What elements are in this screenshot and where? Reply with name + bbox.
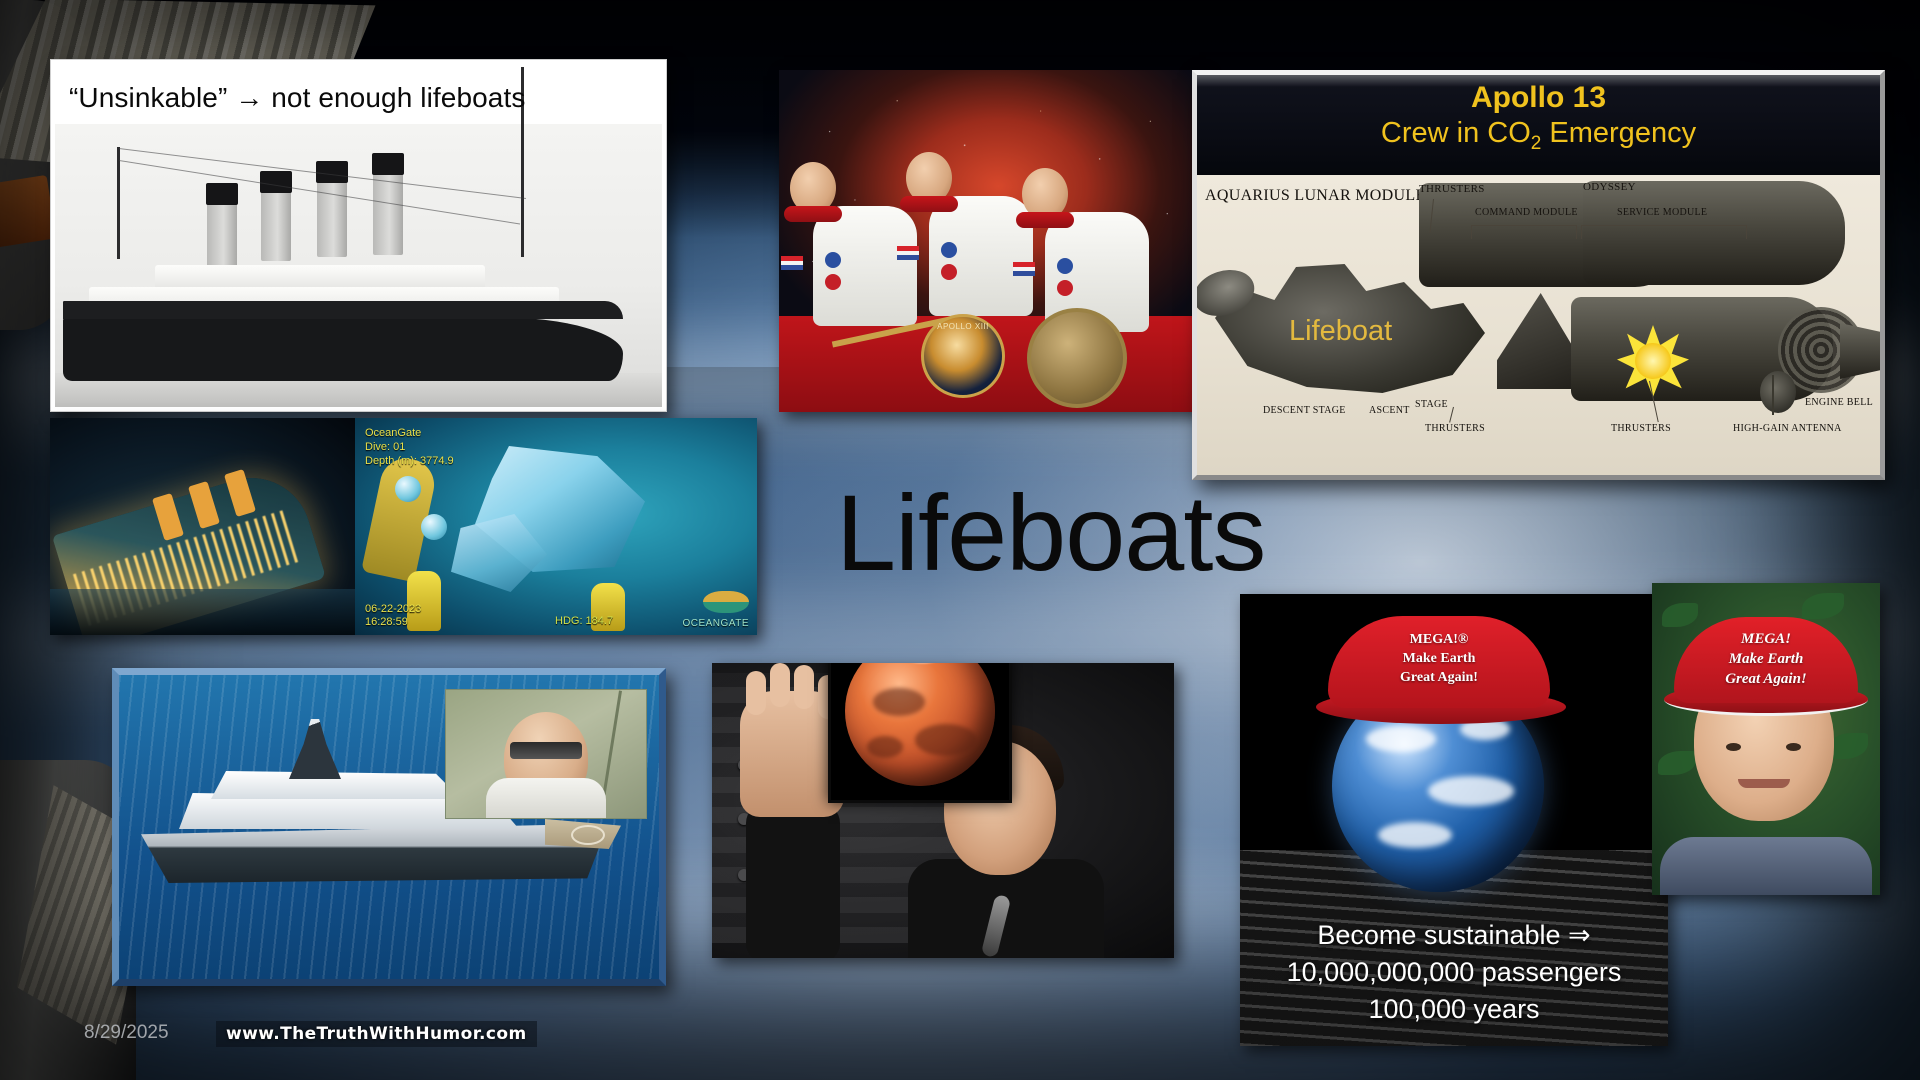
man-hat-line3: Great Again! [1674, 669, 1858, 689]
apollo13-crew-photo[interactable]: APOLLO XIII [779, 70, 1201, 412]
finger-1 [746, 671, 766, 715]
apollo13-header-bar: Apollo 13 Crew in CO2 Emergency [1197, 75, 1880, 175]
watermark: www.TheTruthWithHumor.com [216, 1021, 537, 1047]
label-thrusters-lower-left: THRUSTERS [1425, 423, 1485, 434]
earth-cloud-3 [1378, 822, 1452, 848]
suit-patch-blue [1057, 258, 1073, 274]
earth-cloud-1 [1366, 726, 1436, 752]
finger-3 [794, 665, 814, 709]
mars-mare-1 [873, 688, 925, 716]
oceangate-dive: Dive: 01 [365, 440, 454, 454]
apollo13-diagram-card[interactable]: Apollo 13 Crew in CO2 Emergency Lifeboat… [1192, 70, 1885, 480]
label-descent-stage: DESCENT STAGE [1263, 405, 1346, 416]
man-hat-text: MEGA! Make Earth Great Again! [1674, 629, 1858, 689]
earth-cloud-2 [1428, 776, 1514, 806]
titanic-foremast [117, 147, 120, 259]
helipad-marking-icon [571, 825, 605, 845]
titanic-caption: “Unsinkable” → not enough lifeboats [69, 82, 656, 114]
apollo13-title: Apollo 13 [1197, 81, 1880, 115]
antenna-boom [1772, 375, 1774, 415]
leader-line-thrusters-lower-left [1449, 407, 1454, 423]
explosion-core [1635, 343, 1671, 379]
label-stage: STAGE [1415, 399, 1448, 410]
dark-ocean [50, 589, 355, 635]
mars-inset-photo[interactable] [828, 663, 1012, 803]
rov-sensor-1 [395, 476, 421, 502]
suit-collar [784, 206, 842, 222]
man-with-mega-hat-card[interactable]: MEGA! Make Earth Great Again! [1652, 583, 1880, 895]
musk-arm [746, 803, 840, 958]
oceangate-logo-text: OCEANGATE [682, 618, 749, 629]
man-eye-left [1726, 743, 1741, 751]
label-high-gain-antenna: HIGH-GAIN ANTENNA [1733, 423, 1842, 434]
mega-hat-crown: MEGA!® Make Earth Great Again! [1328, 616, 1550, 708]
man-shirt [1660, 837, 1872, 895]
mega-hat-text: MEGA!® Make Earth Great Again! [1328, 630, 1550, 687]
apollo13-mission-patch-icon: APOLLO XIII [921, 314, 1005, 398]
sunglasses-icon [510, 742, 582, 759]
label-engine-bell: ENGINE BELL [1805, 397, 1873, 408]
high-gain-antenna-drawing [1760, 371, 1796, 413]
apollo13-diagram-body: Lifeboat AQUARIUS LUNAR MODULE THRUSTERS… [1197, 175, 1880, 475]
usa-flag-icon [897, 246, 919, 260]
suit-patch-blue [941, 242, 957, 258]
subtitle-post: Emergency [1541, 117, 1696, 149]
suit-patch-red [1057, 280, 1073, 296]
man-hat-line2: Make Earth [1674, 649, 1858, 669]
oceangate-time: 16:28:59 [365, 616, 421, 629]
titanic-hull [63, 317, 623, 381]
mega-earth-card[interactable]: MEGA!® Make Earth Great Again! Become su… [1240, 594, 1668, 1046]
rov-sensor-2 [421, 514, 447, 540]
mega-hat-line3: Great Again! [1328, 668, 1550, 687]
caption-line1: Become sustainable ⇒ [1240, 917, 1668, 954]
subtitle-pre: Crew in CO [1381, 117, 1531, 149]
suit-patch-blue [825, 252, 841, 268]
man-hat-line1: MEGA! [1674, 629, 1858, 649]
patch-text: APOLLO XIII [924, 317, 1002, 395]
caption-line3: 100,000 years [1240, 991, 1668, 1028]
label-command-module: COMMAND MODULE [1475, 207, 1578, 218]
caption-line2: 10,000,000,000 passengers [1240, 954, 1668, 991]
finger-2 [770, 663, 790, 707]
titanic-photo-card[interactable]: “Unsinkable” → not enough lifeboats [50, 59, 667, 412]
label-aquarius-lunar-module: AQUARIUS LUNAR MODULE [1205, 187, 1426, 205]
suit-patch-red [825, 274, 841, 290]
oceangate-dive-photo: OceanGate Dive: 01 Depth (m): 3774.9 06-… [355, 418, 757, 635]
titanic-wreck-strip[interactable]: OceanGate Dive: 01 Depth (m): 3774.9 06-… [50, 418, 757, 635]
oceangate-label: OceanGate [365, 426, 454, 440]
usa-flag-icon [781, 256, 803, 270]
oceangate-date: 06-22-2023 [365, 603, 421, 616]
label-ascent: ASCENT [1369, 405, 1410, 416]
apollo13-subtitle: Crew in CO2 Emergency [1197, 117, 1880, 155]
slide-canvas: “Unsinkable” → not enough lifeboats Ocea… [0, 0, 1920, 1080]
slide-date: 8/29/2025 [84, 1022, 169, 1044]
commemorative-medal-icon [1027, 308, 1127, 408]
oceangate-depth: Depth (m): 3774.9 [365, 454, 454, 468]
mars-planet-icon [845, 663, 995, 786]
mega-hat-line1: MEGA!® [1328, 630, 1550, 649]
titanic-sinking-photo [50, 418, 355, 635]
bracket-command-module [1471, 225, 1577, 239]
mars-mare-3 [867, 736, 903, 758]
oceangate-timestamp: 06-22-2023 16:28:59 [365, 603, 421, 629]
titanic-photo [55, 124, 662, 407]
subtitle-subscript: 2 [1531, 133, 1542, 154]
usa-flag-icon [1013, 262, 1035, 276]
titanic-upper-deck [155, 265, 485, 289]
man-hat-crown: MEGA! Make Earth Great Again! [1674, 617, 1858, 703]
sustainability-caption: Become sustainable ⇒ 10,000,000,000 pass… [1240, 917, 1668, 1028]
man-mouth [1738, 779, 1790, 788]
yacht-hull [141, 825, 601, 883]
label-thrusters-lower-right: THRUSTERS [1611, 423, 1671, 434]
superyacht-card[interactable] [112, 668, 666, 986]
mega-hat-line2: Make Earth [1328, 649, 1550, 668]
oceangate-heading: HDG: 184.7 [555, 615, 613, 627]
engine-bell-drawing [1840, 323, 1885, 379]
label-service-module: SERVICE MODULE [1617, 207, 1707, 218]
oceangate-logo-icon [703, 591, 749, 613]
mars-mare-2 [915, 724, 977, 756]
musk-photo-card[interactable] [712, 663, 1174, 958]
command-module-drawing [1497, 293, 1581, 389]
suit-patch-red [941, 264, 957, 280]
suit-collar [1016, 212, 1074, 228]
suit-collar [900, 196, 958, 212]
bezos-inset-photo[interactable] [445, 689, 647, 819]
slide-title: Lifeboats [836, 470, 1265, 595]
oceangate-osd: OceanGate Dive: 01 Depth (m): 3774.9 [365, 426, 454, 468]
man-eye-right [1786, 743, 1801, 751]
titanic-funnel-1 [207, 183, 237, 267]
bezos-shirt [486, 778, 606, 818]
lifeboat-annotation: Lifeboat [1289, 315, 1392, 348]
bracket-service-module [1581, 225, 1747, 239]
